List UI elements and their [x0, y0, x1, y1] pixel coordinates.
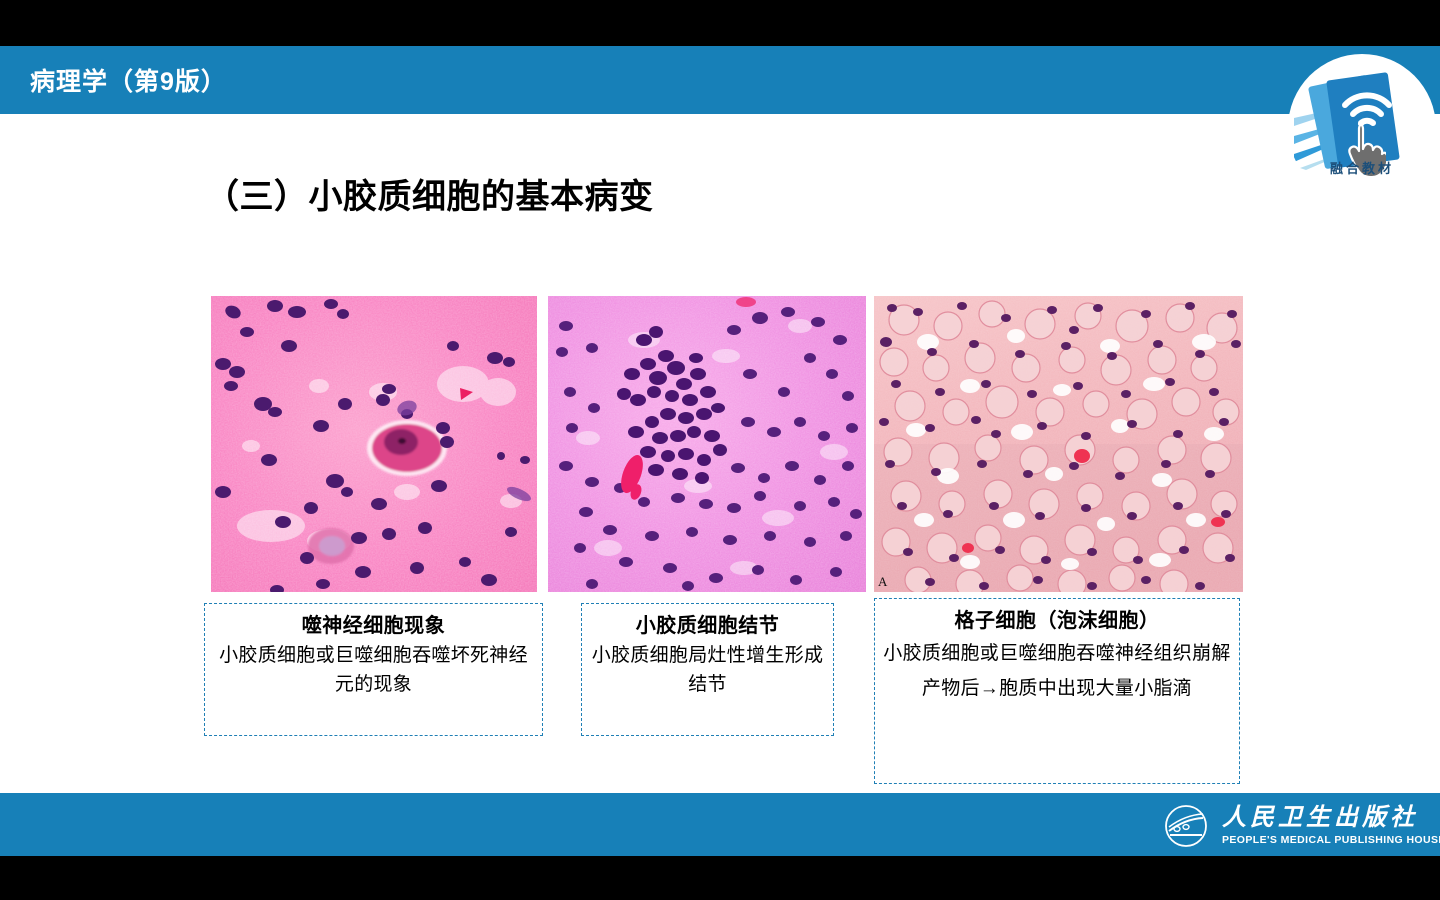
badge-label: 融合教材	[1288, 158, 1436, 177]
panel-neuronophagia	[211, 296, 537, 592]
publisher-text: 人民卫生出版社 PEOPLE'S MEDICAL PUBLISHING HOUS…	[1222, 806, 1440, 845]
caption-title: 噬神经细胞现象	[211, 612, 536, 641]
publisher-name-en: PEOPLE'S MEDICAL PUBLISHING HOUSE	[1222, 834, 1440, 846]
caption-neuronophagia: 噬神经细胞现象 小胶质细胞或巨噬细胞吞噬坏死神经元的现象	[204, 603, 543, 736]
caption-body: 小胶质细胞或巨噬细胞吞噬坏死神经元的现象	[211, 641, 536, 700]
header-title: 病理学（第9版）	[30, 62, 227, 98]
micrograph-gitter-cells-image	[874, 296, 1243, 592]
micrograph-glial-nodule	[548, 296, 866, 592]
page-title: （三）小胶质细胞的基本病变	[205, 169, 654, 218]
panel-glial-nodule	[548, 296, 866, 592]
caption-glial-nodule: 小胶质细胞结节 小胶质细胞局灶性增生形成结节	[581, 603, 834, 736]
publisher-name-cn: 人民卫生出版社	[1222, 806, 1440, 831]
slide-canvas: 病理学（第9版） 融合教材 （三）小胶质细胞的基本病变	[0, 46, 1440, 856]
micrograph-neuronophagia	[211, 296, 537, 592]
micrograph-neuronophagia-image	[211, 296, 537, 592]
caption-body: 小胶质细胞或巨噬细胞吞噬神经组织崩解产物后→胞质中出现大量小脂滴	[881, 636, 1233, 706]
publisher-emblem-icon	[1160, 803, 1212, 849]
rong-he-jiao-cai-badge: 融合教材	[1288, 54, 1436, 202]
panel-gitter-cells: A	[874, 296, 1243, 592]
caption-title: 小胶质细胞结节	[588, 612, 827, 641]
caption-body: 小胶质细胞局灶性增生形成结节	[588, 641, 827, 700]
publisher-logo: 人民卫生出版社 PEOPLE'S MEDICAL PUBLISHING HOUS…	[1160, 802, 1440, 850]
micrograph-glial-nodule-image	[548, 296, 866, 592]
caption-title: 格子细胞（泡沫细胞）	[881, 607, 1233, 636]
micrograph-corner-label: A	[878, 574, 887, 590]
micrograph-gitter-cells: A	[874, 296, 1243, 592]
caption-gitter-cells: 格子细胞（泡沫细胞） 小胶质细胞或巨噬细胞吞噬神经组织崩解产物后→胞质中出现大量…	[874, 598, 1240, 784]
